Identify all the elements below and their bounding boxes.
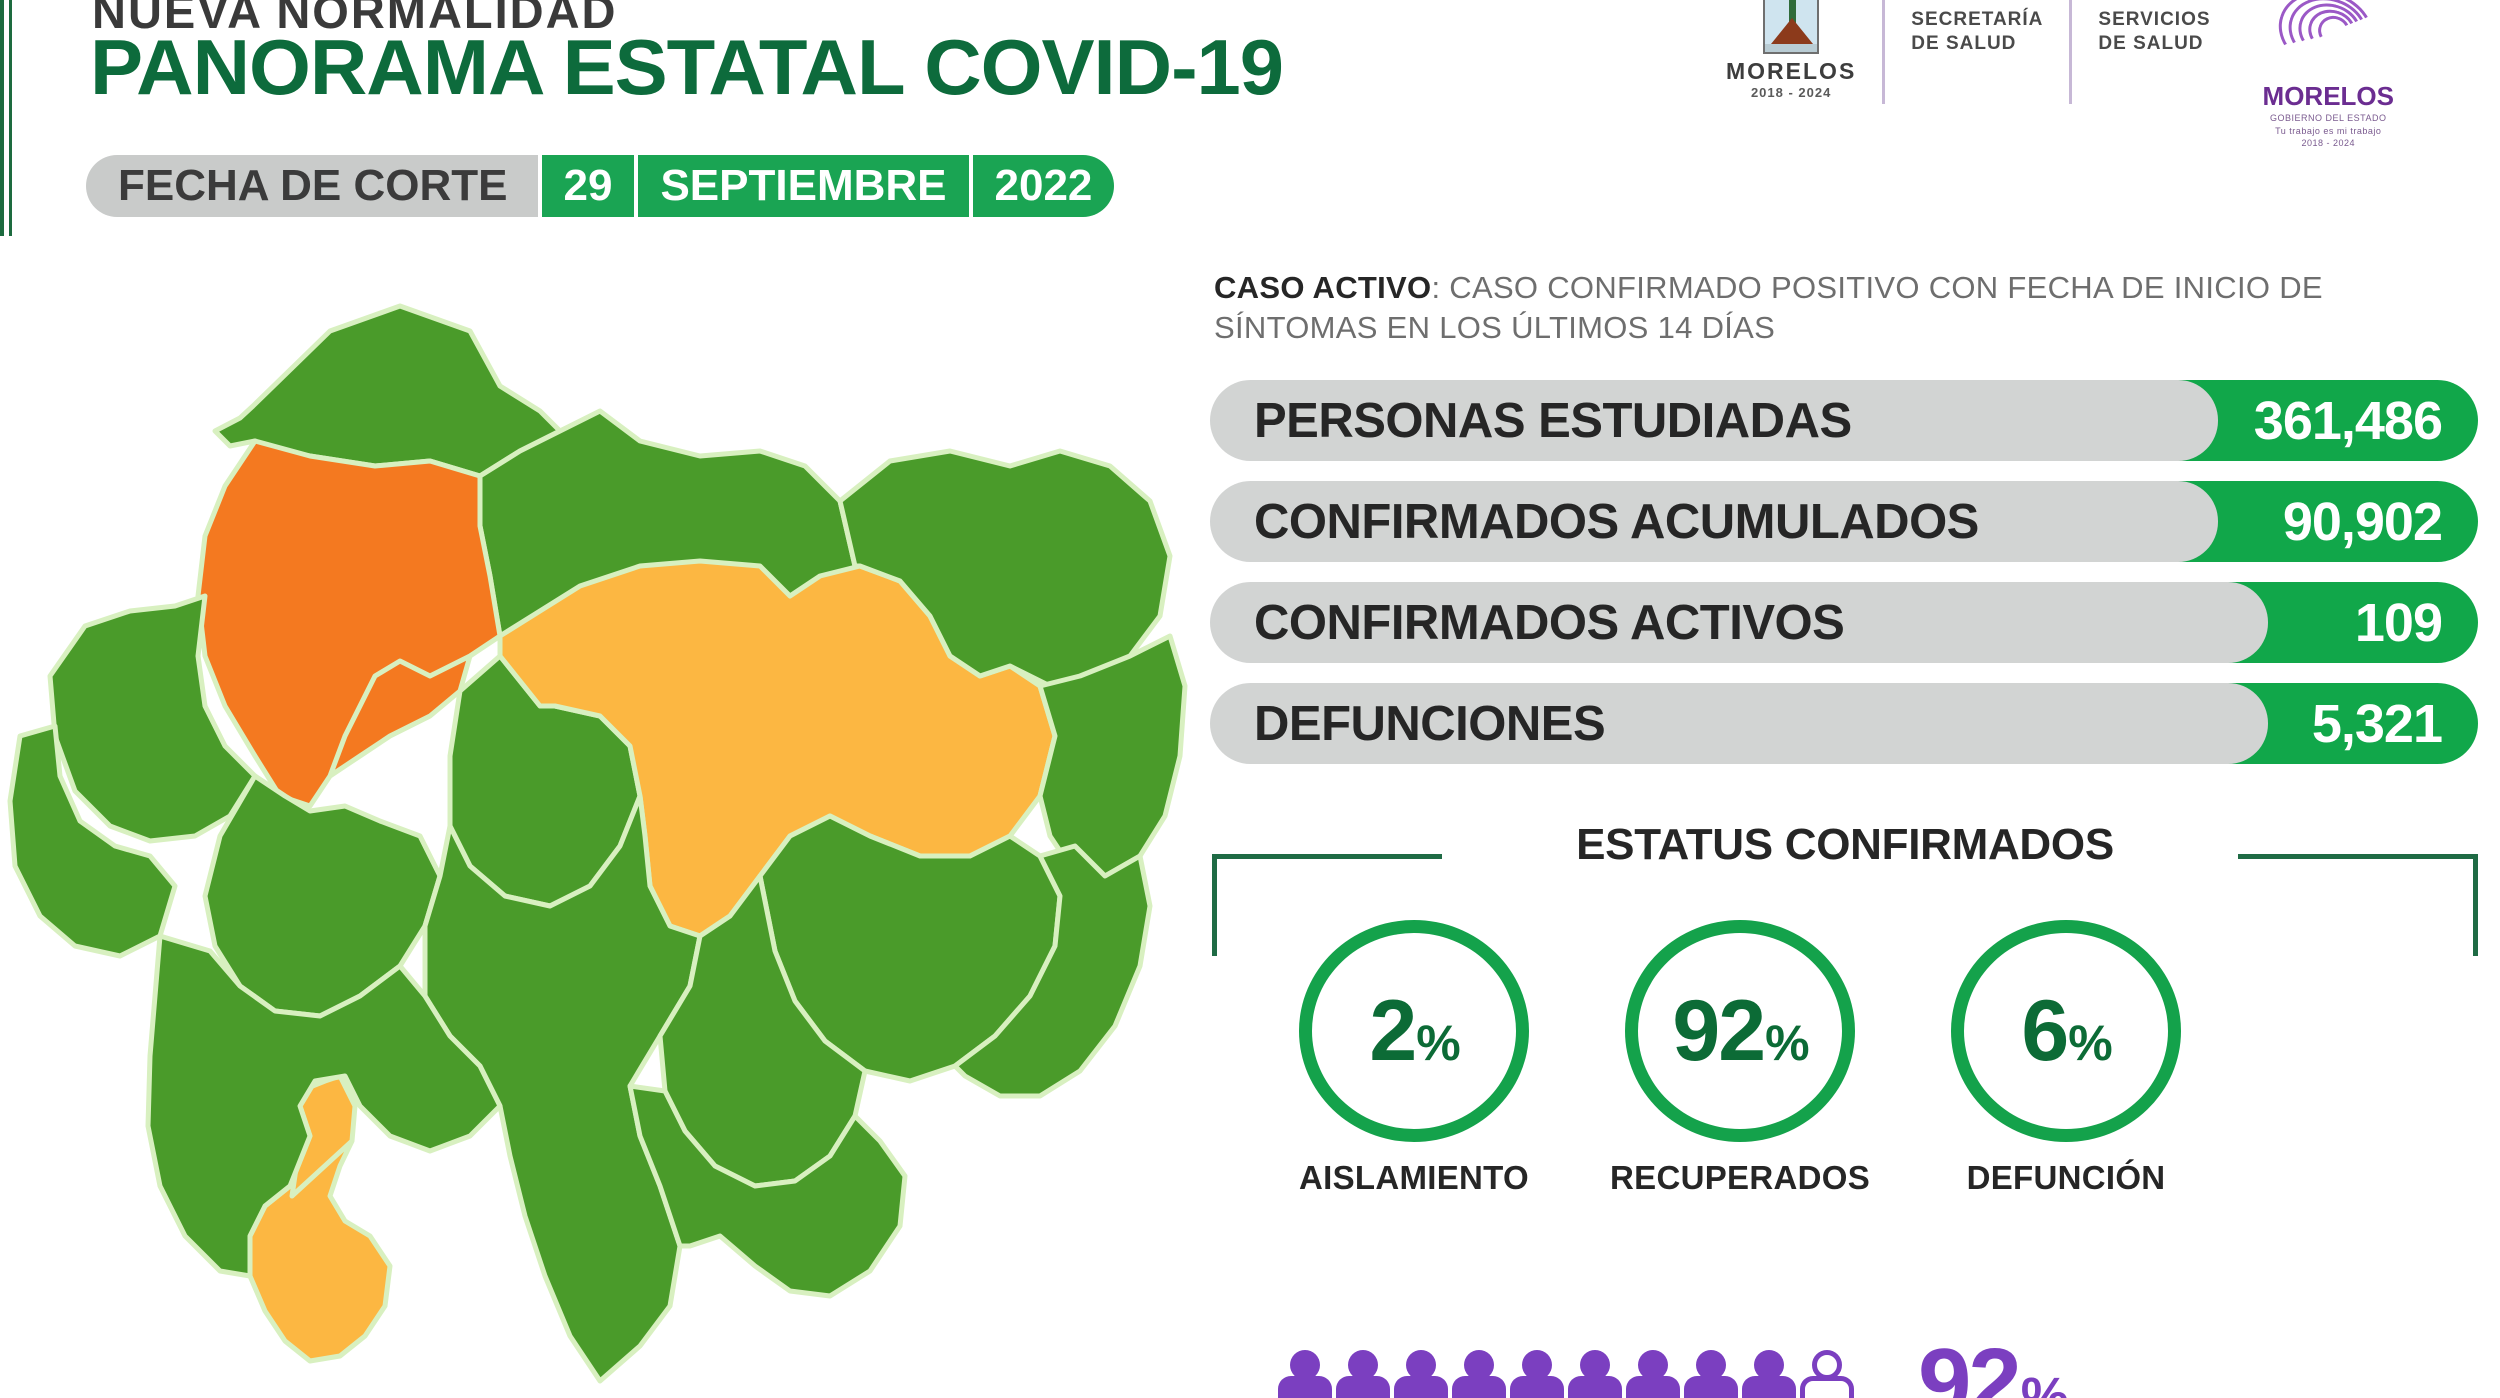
date-label: FECHA DE CORTE	[86, 155, 538, 217]
servicios-line-2: DE SALUD	[2098, 32, 2210, 56]
logo-secretaria-de-salud: SECRETARÍA DE SALUD	[1885, 0, 2069, 56]
stat-row[interactable]: PERSONAS ESTUDIADAS 361,486	[1210, 380, 2478, 461]
person-icon-outline	[1800, 1350, 1854, 1398]
percent-sign: %	[2021, 1366, 2066, 1398]
swirl-icon	[2268, 0, 2388, 87]
logo-servicios-de-salud: SERVICIOS DE SALUD	[2072, 0, 2236, 56]
percent-sign: %	[2068, 1014, 2110, 1072]
person-icon	[1510, 1350, 1564, 1398]
donut-percent-number: 92	[1672, 982, 1764, 1081]
logo-morelos-brand-sub1: GOBIERNO DEL ESTADO	[2270, 112, 2387, 125]
percent-sign: %	[1765, 1014, 1807, 1072]
logo-bar: MORELOS 2018 - 2024 SECRETARÍA DE SALUD …	[1700, 0, 2420, 142]
stat-label: DEFUNCIONES	[1210, 683, 2228, 764]
donut-percent: 92%	[1672, 982, 1807, 1081]
stat-row[interactable]: CONFIRMADOS ACTIVOS 109	[1210, 582, 2478, 663]
donut-label: AISLAMIENTO	[1299, 1159, 1529, 1197]
stat-value: 361,486	[2178, 380, 2478, 461]
logo-morelos-brand-sub3: 2018 - 2024	[2301, 137, 2355, 150]
person-icon	[1394, 1350, 1448, 1398]
date-day: 29	[538, 155, 635, 217]
person-icon	[1742, 1350, 1796, 1398]
secretaria-line-1: SECRETARÍA	[1911, 8, 2043, 32]
person-icon	[1278, 1350, 1332, 1398]
cutoff-date-bar: FECHA DE CORTE 29 SEPTIEMBRE 2022	[86, 155, 1114, 217]
stat-list: PERSONAS ESTUDIADAS 361,486 CONFIRMADOS …	[1210, 380, 2478, 784]
morelos-shield-icon	[1763, 0, 1819, 54]
donut-chart-group: 2% AISLAMIENTO 92% RECUPERADOS 6%	[1292, 920, 2188, 1197]
statistics-panel: CASO ACTIVO: CASO CONFIRMADO POSITIVO CO…	[1190, 250, 2500, 1398]
donut-percent-number: 2	[1369, 982, 1415, 1081]
logo-morelos-name: MORELOS	[1726, 58, 1856, 85]
donut-ring: 2%	[1299, 920, 1529, 1142]
donut-label: RECUPERADOS	[1610, 1159, 1870, 1197]
donut-label: DEFUNCIÓN	[1967, 1159, 2166, 1197]
estatus-confirmados-section: ESTATUS CONFIRMADOS 2% AISLAMIENTO 92% R…	[1212, 820, 2478, 1140]
date-month: SEPTIEMBRE	[634, 155, 968, 217]
person-icon	[1452, 1350, 1506, 1398]
definition-term: CASO ACTIVO	[1214, 270, 1431, 305]
logo-morelos-brand-sub2: Tu trabajo es mi trabajo	[2275, 125, 2381, 138]
donut-percent: 6%	[2021, 982, 2110, 1081]
stat-label: PERSONAS ESTUDIADAS	[1210, 380, 2178, 461]
person-icon	[1568, 1350, 1622, 1398]
person-icon	[1684, 1350, 1738, 1398]
person-icon	[1336, 1350, 1390, 1398]
logo-morelos-brand: MORELOS GOBIERNO DEL ESTADO Tu trabajo e…	[2237, 0, 2420, 150]
stat-row[interactable]: CONFIRMADOS ACUMULADOS 90,902	[1210, 481, 2478, 562]
recovery-pictogram: 92%	[1278, 1328, 2066, 1398]
percent-sign: %	[1416, 1014, 1458, 1072]
donut-item-recuperados[interactable]: 92% RECUPERADOS	[1618, 920, 1862, 1197]
person-icon	[1626, 1350, 1680, 1398]
stat-label: CONFIRMADOS ACTIVOS	[1210, 582, 2228, 663]
stat-row[interactable]: DEFUNCIONES 5,321	[1210, 683, 2478, 764]
page-title: PANORAMA ESTATAL COVID-19	[90, 22, 1283, 113]
morelos-municipal-map[interactable]	[0, 236, 1190, 1398]
donut-item-aislamiento[interactable]: 2% AISLAMIENTO	[1292, 920, 1536, 1197]
date-year: 2022	[969, 155, 1115, 217]
pictogram-percent-number: 92	[1918, 1328, 2019, 1398]
logo-morelos-years: 2018 - 2024	[1751, 85, 1831, 100]
donut-ring: 6%	[1951, 920, 2181, 1142]
donut-ring: 92%	[1625, 920, 1855, 1142]
secretaria-line-2: DE SALUD	[1911, 32, 2043, 56]
pictogram-percent: 92%	[1918, 1328, 2066, 1398]
donut-item-defuncion[interactable]: 6% DEFUNCIÓN	[1944, 920, 2188, 1197]
active-case-definition: CASO ACTIVO: CASO CONFIRMADO POSITIVO CO…	[1214, 268, 2444, 349]
servicios-line-1: SERVICIOS	[2098, 8, 2210, 32]
section-title: ESTATUS CONFIRMADOS	[1212, 820, 2478, 870]
logo-morelos-government: MORELOS 2018 - 2024	[1700, 0, 1882, 100]
donut-percent-number: 6	[2021, 982, 2067, 1081]
donut-percent: 2%	[1369, 982, 1458, 1081]
stat-label: CONFIRMADOS ACUMULADOS	[1210, 481, 2178, 562]
person-icon-row	[1278, 1350, 1854, 1398]
stat-value: 90,902	[2178, 481, 2478, 562]
header: NUEVA NORMALIDAD PANORAMA ESTATAL COVID-…	[0, 0, 2500, 236]
